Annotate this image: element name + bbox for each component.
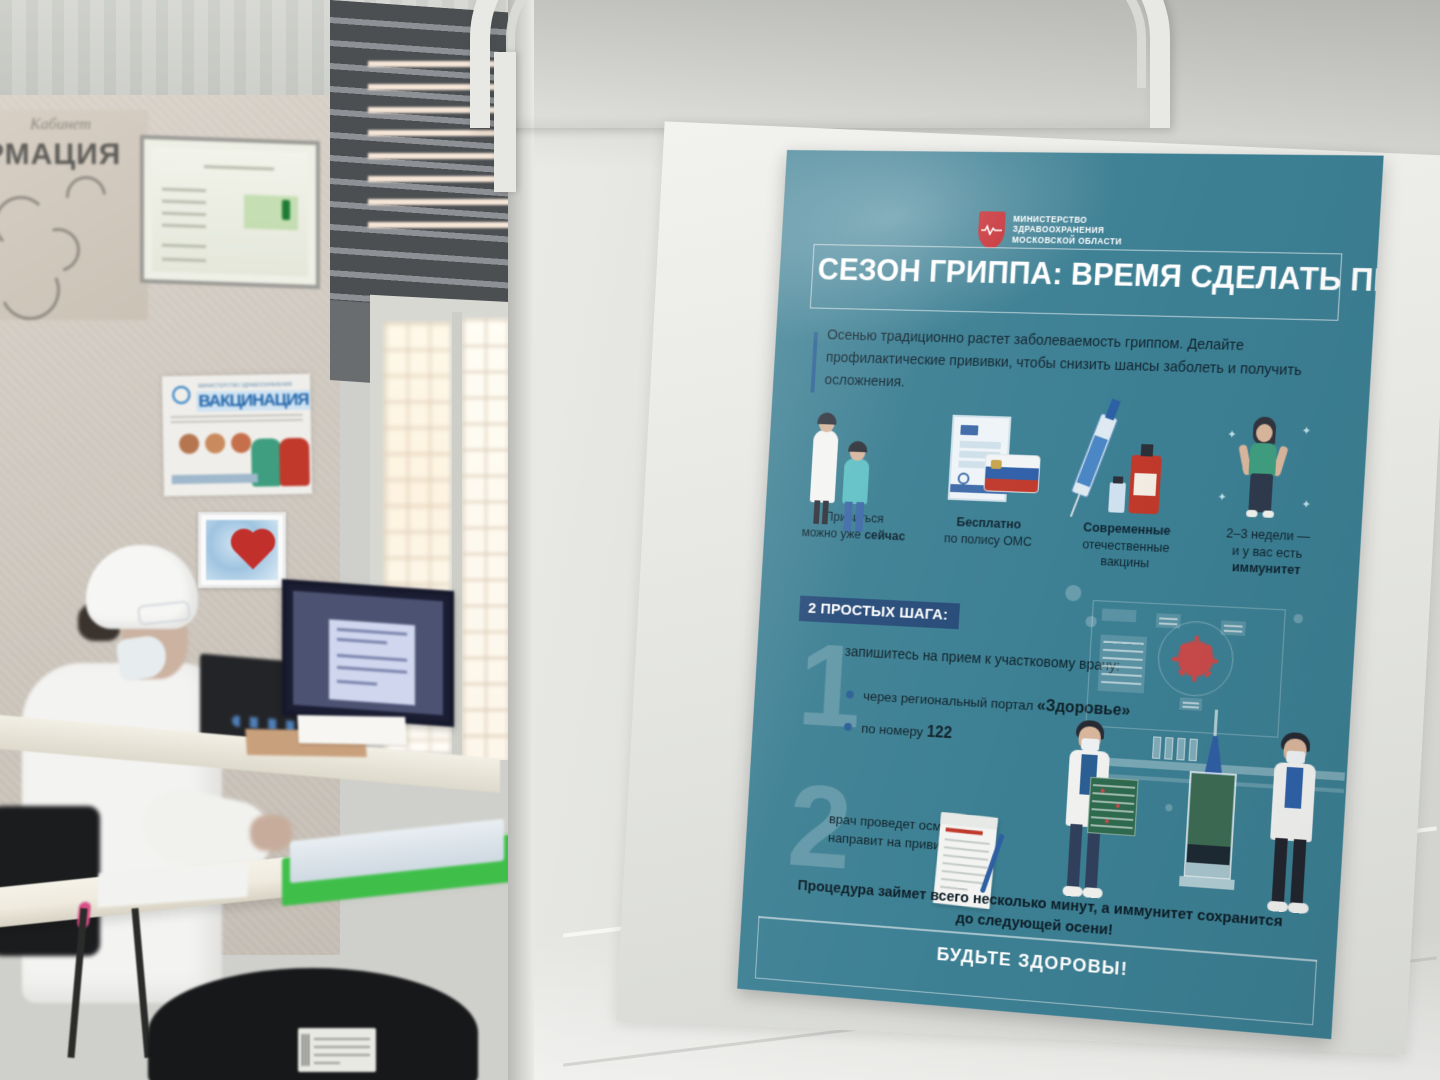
chart-line	[1092, 792, 1134, 797]
clinic-scene-photo: Кабинет РМАЦИЯ МИНИСТЕРСТВ	[0, 0, 1440, 1080]
chart-line	[1092, 800, 1134, 805]
benefit-2-line2: по полису ОМС	[944, 531, 1032, 549]
ministry-logo: МИНИСТЕРСТВО ЗДРАВООХРАНЕНИЯ МОСКОВСКОЙ …	[977, 211, 1123, 250]
lab-line	[1182, 706, 1198, 709]
computer-monitor	[282, 579, 454, 727]
chart-line	[1091, 816, 1133, 821]
curved-frame-arch-inner	[506, 0, 1146, 88]
lab-line	[1224, 625, 1243, 628]
lab-line	[1159, 617, 1177, 620]
bubble	[1065, 585, 1082, 602]
virus-spike	[1194, 635, 1198, 642]
scroll-line	[943, 854, 988, 861]
virus-spike	[1211, 659, 1218, 663]
shoe	[1262, 510, 1274, 518]
sparkle-icon: ✦	[1301, 498, 1311, 512]
doc-line	[162, 200, 206, 205]
benefit-label-4: 2–3 недели — и у вас есть иммунитет	[1224, 525, 1311, 579]
certificate-inner	[152, 147, 308, 276]
benefit-3-line2: отечественные	[1082, 537, 1170, 555]
scroll-line	[942, 870, 987, 877]
arch-support-leg	[494, 52, 516, 192]
label-line	[314, 1062, 340, 1064]
benefit-item-3: Современные отечественные вакцины	[1053, 410, 1204, 606]
lab-line	[1101, 681, 1141, 685]
ornament-swirl	[58, 168, 114, 224]
doctor-and-patient-icon	[789, 402, 928, 509]
clinic-room-background: Кабинет РМАЦИЯ МИНИСТЕРСТВ	[0, 0, 560, 1080]
lab-line	[1183, 702, 1199, 705]
bullet-2-text: по номеру	[861, 721, 927, 740]
chart-dot	[1105, 819, 1109, 823]
bullet-2-strong: 122	[926, 723, 952, 741]
immune-person-icon: ✦ ✦ ✦ ✦	[1198, 415, 1347, 526]
lab-line	[1224, 630, 1243, 633]
lab-card	[1098, 635, 1148, 694]
bullet-1-text: через региональный портал	[863, 688, 1038, 713]
virus-spike	[1192, 675, 1196, 682]
sparkle-icon: ✦	[1301, 424, 1311, 438]
lab-card	[1102, 609, 1137, 623]
benefit-1-line2-bold: сейчас	[864, 528, 906, 544]
cert-seal	[957, 472, 969, 484]
leg	[1085, 825, 1101, 890]
lab-line	[1159, 622, 1177, 625]
hand	[250, 815, 292, 851]
card-chip-icon	[991, 460, 1002, 469]
barcode-icon	[302, 1034, 310, 1066]
doc-marker	[282, 200, 290, 220]
desk-leg	[67, 908, 87, 1058]
information-wall-board: Кабинет РМАЦИЯ	[0, 110, 148, 320]
doc-line	[204, 165, 274, 170]
benefit-4-line1: 2–3 недели —	[1226, 526, 1311, 544]
benefit-4-line2: и у вас есть	[1232, 543, 1303, 560]
small-vial	[1108, 482, 1126, 513]
virus-spike	[1171, 657, 1178, 661]
bubble	[1165, 804, 1173, 812]
cert-chip	[960, 425, 978, 435]
benefit-label-2: Бесплатно по полису ОМС	[944, 514, 1033, 551]
poster-footer-bar	[172, 474, 258, 484]
syringe-fluid	[1077, 435, 1108, 487]
doc-line	[162, 212, 206, 217]
vaccination-poster-text	[171, 414, 303, 426]
test-tube	[1164, 737, 1173, 760]
bottle-label	[1133, 473, 1156, 496]
intro-accent-bar	[811, 332, 818, 393]
lab-line	[1102, 665, 1142, 669]
syringe-plunger	[1105, 398, 1121, 420]
face-mask	[1286, 751, 1305, 764]
shirt	[1284, 767, 1303, 809]
benefit-2-line1: Бесплатно	[956, 515, 1021, 532]
benefit-label-3: Современные отечественные вакцины	[1081, 519, 1171, 573]
flu-vaccination-poster: МИНИСТЕРСТВО ЗДРАВООХРАНЕНИЯ МОСКОВСКОЙ …	[737, 150, 1383, 1039]
shirt	[1248, 443, 1277, 476]
lab-line	[1101, 673, 1141, 677]
benefit-4-line3: иммунитет	[1231, 560, 1300, 577]
poster-face	[231, 433, 251, 453]
label-line	[314, 1038, 370, 1040]
benefit-3-line1: Современные	[1083, 520, 1171, 538]
laboratory-illustration	[1050, 585, 1355, 943]
info-board-title: РМАЦИЯ	[0, 138, 121, 172]
benefit-3-line3: вакцины	[1100, 554, 1150, 570]
poster-intro-text: Осенью традиционно растет заболеваемость…	[824, 324, 1346, 407]
leg	[1272, 838, 1288, 904]
doc-line	[162, 224, 206, 229]
chair-label-sticker	[298, 1028, 376, 1072]
chart-line	[1093, 784, 1135, 789]
syringe-needle	[1213, 710, 1218, 741]
lab-line	[1103, 641, 1143, 645]
syringe-plunger	[1204, 735, 1225, 777]
held-chart	[1087, 777, 1138, 836]
papers-stack	[297, 715, 406, 745]
monitor-document-window	[329, 619, 415, 705]
doc-line	[337, 628, 407, 636]
syringe-fluid	[1188, 773, 1235, 847]
info-board-script: Кабинет	[30, 116, 91, 134]
doctor-figure	[810, 430, 839, 503]
scroll-red-line	[945, 827, 982, 835]
face-mask	[1081, 738, 1100, 751]
ministry-line-3: МОСКОВСКОЙ ОБЛАСТИ	[1012, 235, 1122, 247]
test-tube	[1176, 738, 1185, 761]
lab-line	[1102, 657, 1142, 661]
patient-figure	[842, 458, 870, 504]
legs	[1248, 473, 1273, 512]
doc-line	[337, 680, 377, 686]
scroll-line	[941, 878, 986, 885]
label-line	[314, 1054, 370, 1056]
syringe-and-vaccine-vials-icon	[1058, 410, 1204, 520]
benefit-item-2: Бесплатно по полису ОМС	[917, 406, 1064, 600]
cert-line	[960, 441, 1002, 449]
scientist-right	[1259, 735, 1326, 933]
vaccination-poster-title: ВАКЦИНАЦИЯ	[196, 390, 310, 412]
poster-face	[179, 434, 199, 454]
green-tray	[282, 834, 512, 906]
doc-line	[337, 638, 387, 644]
wall-vaccination-poster: МИНИСТЕРСТВО ЗДРАВООХРАНЕНИЯ ВАКЦИНАЦИЯ	[162, 374, 312, 497]
vaccine-bottle	[1128, 455, 1162, 514]
leg	[1290, 839, 1306, 905]
poster-face	[205, 433, 225, 453]
poster-body: МИНИСТЕРСТВО ЗДРАВООХРАНЕНИЯ МОСКОВСКОЙ …	[737, 150, 1383, 1039]
lab-line	[1103, 649, 1143, 653]
poster-person	[279, 438, 310, 487]
chart-dot	[1116, 804, 1120, 808]
sparkle-icon: ✦	[1217, 490, 1227, 504]
doc-line	[337, 666, 407, 674]
vaccination-poster-subtitle: МИНИСТЕРСТВО ЗДРАВООХРАНЕНИЯ	[198, 382, 292, 390]
monitor-screen	[293, 591, 443, 715]
doc-line	[162, 188, 206, 193]
syringe-needle	[1070, 494, 1081, 517]
scroll-line	[944, 846, 989, 853]
label-line	[314, 1046, 370, 1048]
bubble	[1293, 614, 1303, 624]
benefits-row: Привиться можно уже сейчас	[784, 402, 1347, 614]
test-tube	[1152, 736, 1161, 759]
virus-icon	[1177, 641, 1214, 677]
framed-certificate	[140, 135, 320, 289]
benefit-item-1: Привиться можно уже сейчас	[784, 402, 928, 594]
scientist-left	[1054, 723, 1119, 917]
cert-line	[958, 461, 988, 469]
ministry-shield-pulse-icon	[977, 211, 1006, 248]
pulse-line-icon	[981, 224, 1002, 235]
scroll-line	[945, 838, 990, 845]
sparkle-icon: ✦	[1227, 428, 1237, 441]
doc-line	[162, 258, 206, 263]
oms-policy-certificate-icon	[922, 406, 1064, 514]
ministry-logo-text: МИНИСТЕРСТВО ЗДРАВООХРАНЕНИЯ МОСКОВСКОЙ …	[1012, 215, 1124, 248]
scroll-line	[942, 862, 987, 869]
doc-line	[162, 244, 206, 249]
syringe-stopper	[1187, 844, 1231, 865]
vaccination-poster-logo-icon	[172, 386, 190, 404]
immune-person-figure	[1239, 416, 1286, 519]
oms-card-graphic	[983, 454, 1040, 494]
chart-line	[1090, 824, 1132, 829]
benefit-item-4: ✦ ✦ ✦ ✦	[1193, 415, 1348, 614]
doc-line	[337, 654, 407, 662]
shoe	[1288, 902, 1309, 914]
chart-line	[1091, 808, 1133, 813]
lab-card	[1179, 697, 1202, 710]
leg	[1067, 824, 1083, 889]
shoe	[1246, 510, 1258, 518]
